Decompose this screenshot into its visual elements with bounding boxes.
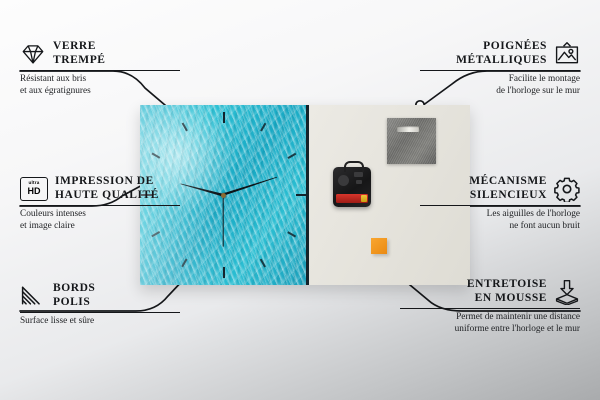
feature-poignees-metalliques[interactable]: POIGNÉES MÉTALLIQUES Facilite le montage…: [420, 40, 580, 97]
feature-subtitle: Surface lisse et sûre: [20, 316, 180, 327]
feature-rule: [20, 312, 180, 313]
feature-title: POIGNÉES MÉTALLIQUES: [456, 40, 547, 67]
clock-tick: [152, 153, 161, 159]
mechanism-detail: [354, 172, 363, 177]
feature-subtitle: Facilite le montage de l'horloge sur le …: [420, 74, 580, 97]
picture-frame-icon: [554, 41, 580, 67]
feature-head: MÉCANISME SILENCIEUX: [420, 175, 580, 202]
feature-rule: [420, 205, 580, 206]
mechanism-detail: [338, 175, 349, 186]
feature-head: POIGNÉES MÉTALLIQUES: [420, 40, 580, 67]
feature-bords-polis[interactable]: BORDS POLIS Surface lisse et sûre: [20, 282, 180, 328]
metal-hanger-plate: [387, 118, 436, 164]
clock-tick: [288, 231, 297, 237]
feature-subtitle: Permet de maintenir une distance uniform…: [400, 312, 580, 335]
feature-subtitle: Résistant aux bris et aux égratignures: [20, 74, 180, 97]
feature-head: ENTRETOISE EN MOUSSE: [400, 278, 580, 305]
feature-title: MÉCANISME SILENCIEUX: [469, 175, 547, 202]
clock-minute-hand: [223, 176, 278, 197]
polished-edges-icon: [20, 283, 46, 309]
feature-subtitle: Couleurs intenses et image claire: [20, 209, 180, 232]
clock-tick: [260, 123, 266, 132]
gear-icon: [554, 176, 580, 202]
feature-verre-trempe[interactable]: VERRE TREMPÉ Résistant aux bris et aux é…: [20, 40, 180, 97]
battery: [336, 194, 368, 203]
diamond-icon: [20, 41, 46, 67]
clock-tick: [223, 112, 225, 123]
ultra-hd-icon-bottom-label: HD: [28, 187, 41, 196]
clock-center-pin: [221, 193, 226, 198]
feature-head: ultra HD IMPRESSION DE HAUTE QUALITÉ: [20, 175, 180, 202]
feature-entretoise-en-mousse[interactable]: ENTRETOISE EN MOUSSE Permet de maintenir…: [400, 278, 580, 335]
feature-impression-haute-qualite[interactable]: ultra HD IMPRESSION DE HAUTE QUALITÉ Cou…: [20, 175, 180, 232]
clock-tick: [288, 153, 297, 159]
foam-spacer: [371, 238, 387, 254]
clock-tick: [182, 123, 188, 132]
clock-hour-hand: [180, 181, 224, 197]
feature-subtitle: Les aiguilles de l'horloge ne font aucun…: [420, 209, 580, 232]
clock-tick: [296, 194, 307, 196]
clock-tick: [223, 267, 225, 278]
hanger-slot: [397, 126, 419, 132]
feature-rule: [20, 70, 180, 71]
feature-rule: [20, 205, 180, 206]
feature-title: IMPRESSION DE HAUTE QUALITÉ: [55, 175, 159, 202]
feature-head: BORDS POLIS: [20, 282, 180, 309]
feature-rule: [400, 308, 580, 309]
clock-mechanism: [333, 167, 371, 207]
feature-head: VERRE TREMPÉ: [20, 40, 180, 67]
feature-mecanisme-silencieux[interactable]: MÉCANISME SILENCIEUX Les aiguilles de l'…: [420, 175, 580, 232]
clock-tick: [152, 231, 161, 237]
feature-title: ENTRETOISE EN MOUSSE: [467, 278, 547, 305]
mechanism-hook: [344, 161, 364, 172]
arrow-down-pad-icon: [554, 279, 580, 305]
feature-title: BORDS POLIS: [53, 282, 95, 309]
feature-title: VERRE TREMPÉ: [53, 40, 106, 67]
clock-tick: [182, 259, 188, 268]
infographic-stage: VERRE TREMPÉ Résistant aux bris et aux é…: [0, 0, 600, 400]
clock-tick: [260, 259, 266, 268]
ultra-hd-icon: ultra HD: [20, 177, 48, 201]
clock-second-hand: [223, 195, 224, 247]
mechanism-detail: [356, 180, 362, 184]
feature-rule: [420, 70, 580, 71]
